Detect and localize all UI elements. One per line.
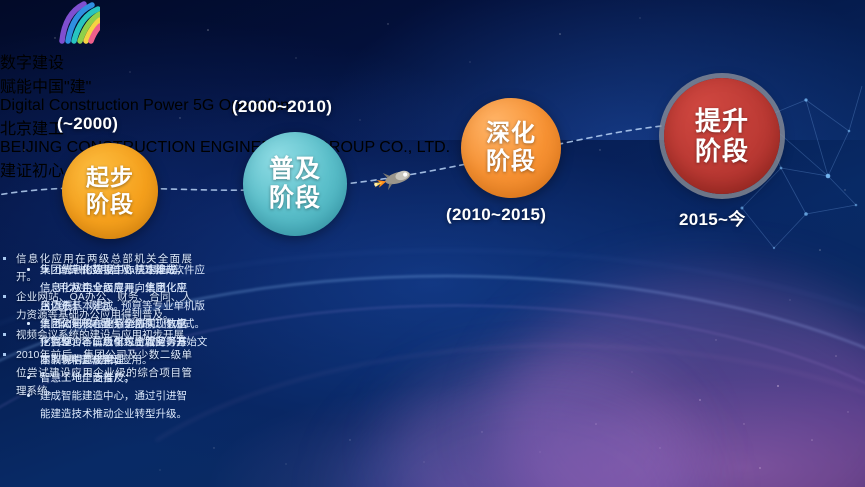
stage-4-description-column: 集团统一的数据中心基本建成，信息化从企业级应用向集团化应用迈进； 信息化建设在跨… [0,250,192,433]
stage-4-year-label: 2015~今 [679,205,746,230]
stage-2-title-line-1: 普及 [269,155,321,184]
stage-4-bullet-list: 集团统一的数据中心基本建成，信息化从企业级应用向集团化应用迈进； 信息化建设在跨… [0,261,192,423]
bottom-glow-a-decoration [495,277,865,487]
stage-2-title-line-2: 阶段 [269,184,321,213]
bottom-glow-b-decoration [395,347,695,487]
stage-1-title-line-1: 起步 [86,164,134,191]
stage-circle-3[interactable]: 深化 阶段 [461,98,561,198]
stage-4-title-line-2: 阶段 [695,136,749,166]
stage-3-title-line-2: 阶段 [486,148,536,176]
stage-2-year-label: (2000~2010) [232,97,332,117]
list-item: 集团统一的数据中心基本建成，信息化从企业级应用向集团化应用迈进； [40,261,192,315]
bottom-glow-c-decoration [346,377,706,487]
stage-circle-4[interactable]: 提升 阶段 [664,78,780,194]
list-item: 信息化建设在跨系统协同、数据挖掘整合、信息化综合服务等方面取得明显成果； [40,315,192,369]
stage-3-year-label: (2010~2015) [446,205,546,225]
stage-1-title-line-2: 阶段 [86,191,134,218]
conference-ribbon-icon [0,0,100,44]
slide-canvas: 起步 阶段 普及 阶段 深化 阶段 提升 阶段 (~2000) (2000~20… [0,0,865,487]
stage-3-title-line-1: 深化 [486,120,536,148]
stage-circle-2[interactable]: 普及 阶段 [243,132,347,236]
stage-4-title-line-1: 提升 [695,106,749,136]
list-item: 智慧工地全面普及； [40,369,192,387]
stage-1-year-label: (~2000) [57,114,118,134]
list-item: 建成智能建造中心，通过引进智能建造技术推动企业转型升级。 [40,387,192,423]
conference-logo-line-1: 数字建设 [0,49,865,73]
stage-circle-1[interactable]: 起步 阶段 [62,143,158,239]
